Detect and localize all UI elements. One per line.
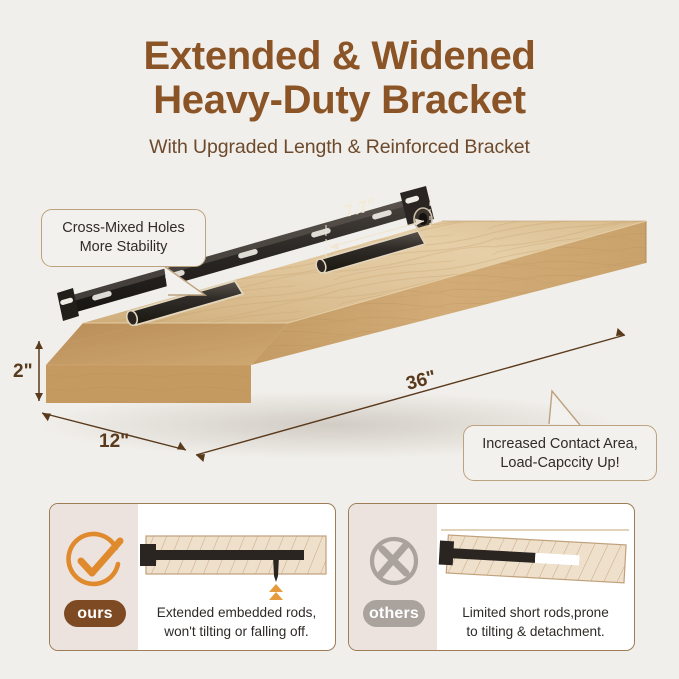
panel-ours-caption-line-2: won't tilting or falling off. [144,622,329,641]
callout-cross-line-2: More Stability [52,238,195,257]
callout-contact-line-1: Increased Contact Area, [474,435,646,454]
callout-increased-contact-area: Increased Contact Area, Load-Capccity Up… [463,425,657,481]
page-subtitle: With Upgraded Length & Reinforced Bracke… [0,135,679,159]
panel-ours-caption: Extended embedded rods, won't tilting or… [138,603,335,641]
headline-line-1: Extended & Widened [143,34,535,78]
comparison-panel-others: others [348,503,635,651]
badge-ours: ours [64,600,126,627]
dimension-thickness [35,341,43,401]
panel-others-caption-line-2: to tilting & detachment. [443,622,628,641]
panel-ours-caption-line-1: Extended embedded rods, [144,603,329,622]
figure-extended-rod [138,510,336,602]
badge-others: others [363,600,425,627]
panel-others-body: Limited short rods,prone to tilting & de… [437,504,634,650]
callout-cross-line-1: Cross-Mixed Holes [52,219,195,238]
x-circle-icon [363,530,425,592]
dimension-label-thickness: 2" [13,361,33,382]
check-circle-icon [64,530,126,592]
dimension-label-length: 36" [404,367,439,395]
panel-others-caption: Limited short rods,prone to tilting & de… [437,603,634,641]
figure-short-rod [437,510,635,602]
infographic-canvas: Extended & Widened Heavy-Duty Bracket Wi… [0,0,679,679]
callout-cross-mixed-holes: Cross-Mixed Holes More Stability [41,209,206,267]
panel-others-caption-line-1: Limited short rods,prone [443,603,628,622]
callout-contact-line-2: Load-Capccity Up! [474,454,646,473]
headline-line-2: Heavy-Duty Bracket [0,78,679,122]
page-title: Extended & Widened Heavy-Duty Bracket [0,34,679,122]
panel-ours-body: Extended embedded rods, won't tilting or… [138,504,335,650]
dimension-label-depth: 12" [99,431,129,452]
comparison-panel-ours: ours [49,503,336,651]
